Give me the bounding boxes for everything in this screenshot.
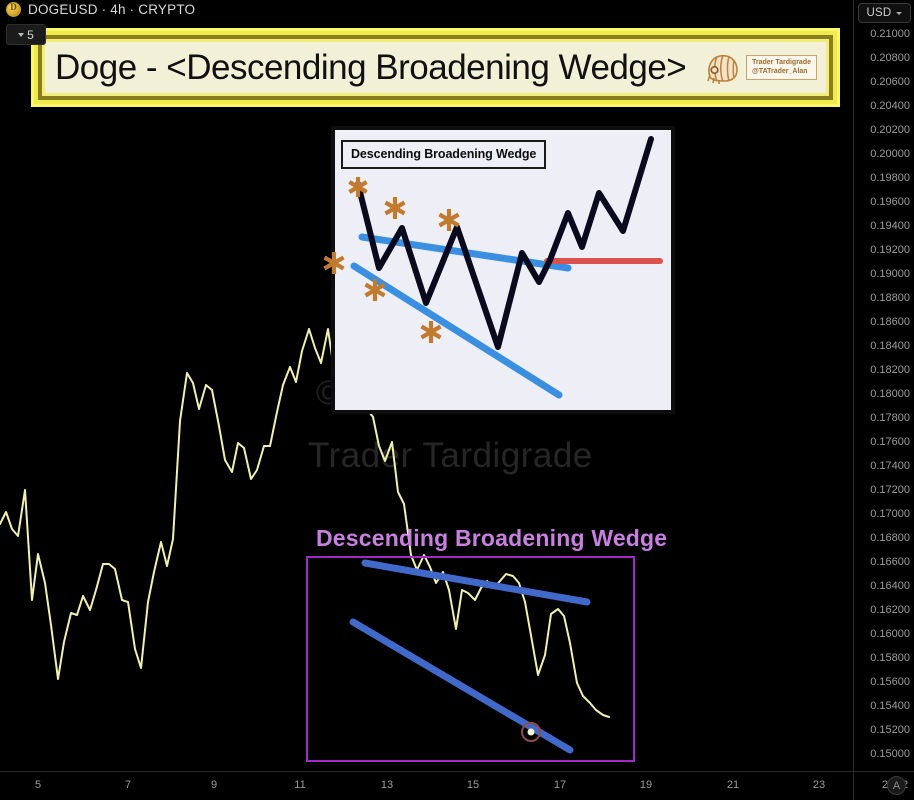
time-tick: 13 (381, 779, 393, 791)
price-tick: 0.19800 (870, 172, 910, 184)
price-tick: 0.20800 (870, 52, 910, 64)
brand-name: Trader Tardigrade (752, 59, 811, 67)
brand-cluster: Trader Tardigrade @TATrader_Alan (704, 51, 817, 85)
price-tick: 0.17400 (870, 460, 910, 472)
price-tick: 0.15400 (870, 700, 910, 712)
dogecoin-icon (6, 2, 21, 17)
price-tick: 0.19000 (870, 268, 910, 280)
price-tick: 0.17200 (870, 484, 910, 496)
pattern-diagram-inset[interactable]: Descending Broadening Wedge (331, 126, 675, 414)
page-title: Doge - <Descending Broadening Wedge> (55, 48, 686, 88)
currency-selector[interactable]: USD (858, 3, 911, 23)
price-tick: 0.15800 (870, 652, 910, 664)
alert-button[interactable]: A (887, 776, 906, 795)
price-tick: 0.20200 (870, 124, 910, 136)
title-banner[interactable]: Doge - <Descending Broadening Wedge> (31, 28, 840, 107)
diagram-graphic (335, 130, 671, 410)
price-tick: 0.18600 (870, 316, 910, 328)
diagram-title-box: Descending Broadening Wedge (341, 140, 546, 169)
currency-label: USD (867, 7, 892, 19)
price-tick: 0.20000 (870, 148, 910, 160)
price-tick: 0.19400 (870, 220, 910, 232)
legend-toggle-chip[interactable]: 5 (6, 24, 46, 45)
time-tick: 19 (640, 779, 652, 791)
title-banner-inner: Doge - <Descending Broadening Wedge> (42, 39, 829, 96)
price-tick: 0.19600 (870, 196, 910, 208)
axis-divider (853, 772, 854, 800)
price-tick: 0.16200 (870, 604, 910, 616)
time-tick: 5 (35, 779, 41, 791)
price-axis[interactable]: USD 0.210000.208000.206000.204000.202000… (853, 0, 914, 772)
brand-card: Trader Tardigrade @TATrader_Alan (746, 55, 817, 79)
asterisk-icon (384, 197, 405, 219)
price-tick: 0.16000 (870, 628, 910, 640)
price-tick: 0.18000 (870, 388, 910, 400)
brand-handle: @TATrader_Alan (752, 68, 811, 76)
price-tick: 0.18800 (870, 292, 910, 304)
time-tick: 9 (211, 779, 217, 791)
price-tick: 0.17800 (870, 412, 910, 424)
time-tick: 11 (294, 779, 305, 791)
diagram-title-text: Descending Broadening Wedge (351, 147, 536, 161)
chevron-down-icon (896, 12, 902, 15)
price-tick: 0.15000 (870, 748, 910, 760)
time-tick: 21 (727, 779, 739, 791)
price-tick: 0.20600 (870, 76, 910, 88)
asterisk-icon (348, 177, 367, 197)
price-tick: 0.18400 (870, 340, 910, 352)
pattern-annotation-label: Descending Broadening Wedge (316, 525, 667, 552)
watermark-text: Trader Tardigrade (308, 436, 593, 476)
diagram-canvas: Descending Broadening Wedge (335, 130, 671, 410)
legend-count: 5 (27, 28, 34, 42)
symbol-header[interactable]: DOGEUSD · 4h · CRYPTO (6, 2, 195, 17)
price-tick: 0.16600 (870, 556, 910, 568)
time-axis[interactable]: 57911131517192123252 A (0, 771, 914, 800)
price-tick: 0.17600 (870, 436, 910, 448)
pattern-annotation-box[interactable] (306, 556, 635, 762)
price-tick: 0.17000 (870, 508, 910, 520)
time-tick: 17 (554, 779, 566, 791)
price-tick: 0.18200 (870, 364, 910, 376)
time-tick: 15 (467, 779, 479, 791)
trading-chart-screenshot: © Trader Tardigrade Descending Broadenin… (0, 0, 914, 800)
chevron-down-icon (18, 33, 24, 37)
price-tick: 0.19200 (870, 244, 910, 256)
price-tick: 0.20400 (870, 100, 910, 112)
time-tick: 7 (125, 779, 131, 791)
title-banner-mid-border: Doge - <Descending Broadening Wedge> (38, 35, 833, 100)
symbol-label[interactable]: DOGEUSD · 4h · CRYPTO (28, 2, 195, 17)
asterisk-icon (420, 321, 441, 343)
price-tick: 0.21000 (870, 28, 910, 40)
time-tick: 23 (813, 779, 825, 791)
price-tick: 0.16400 (870, 580, 910, 592)
chart-pane[interactable]: © Trader Tardigrade Descending Broadenin… (0, 0, 853, 772)
price-tick: 0.15200 (870, 724, 910, 736)
asterisk-icon (323, 252, 344, 274)
tardigrade-icon (704, 51, 740, 85)
price-tick: 0.15600 (870, 676, 910, 688)
price-tick: 0.16800 (870, 532, 910, 544)
